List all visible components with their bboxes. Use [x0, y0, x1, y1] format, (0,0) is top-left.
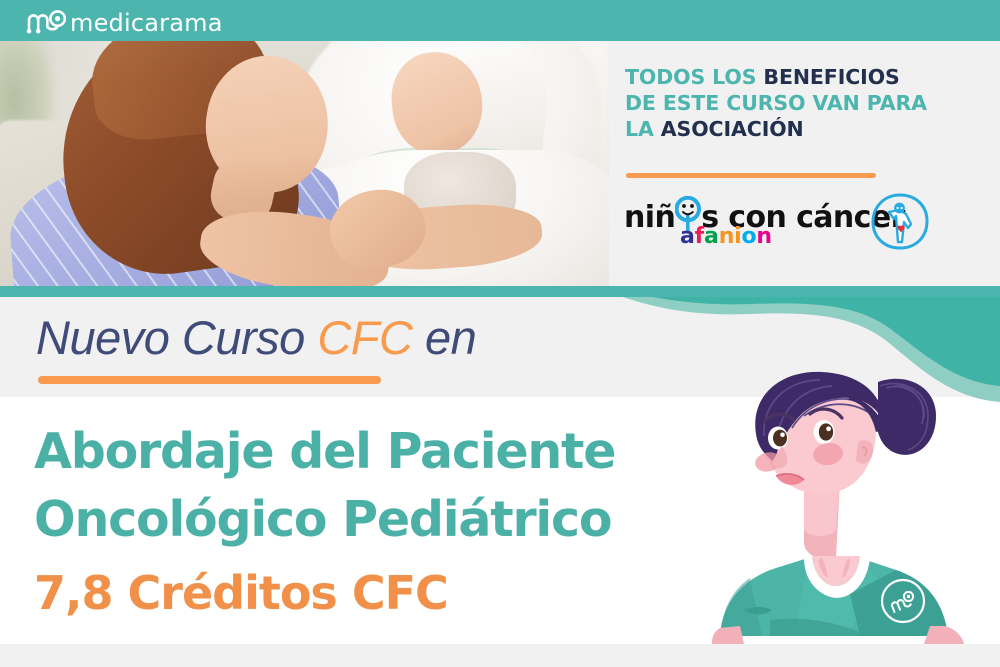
- brand-logo[interactable]: medicarama: [26, 7, 223, 39]
- afanion-letter-6: o: [742, 224, 757, 249]
- hero-eyebrow-part1: Nuevo Curso: [36, 311, 317, 364]
- afanion-letter-3: a: [704, 224, 719, 249]
- hero-eyebrow: Nuevo Curso CFC en: [36, 310, 476, 365]
- hero-eyebrow-part2: en: [412, 311, 476, 364]
- association-name-part1: niñ: [624, 200, 675, 235]
- claim-line1-navy: BENEFICIOS: [763, 65, 899, 89]
- footer-strip: [0, 644, 1000, 667]
- course-title-line-2: Oncológico Pediátrico: [34, 486, 694, 554]
- afanion-letter-5: i: [734, 224, 741, 249]
- hero-accent-rule: [38, 376, 381, 384]
- course-title-line-1: Abordaje del Paciente: [34, 418, 694, 486]
- afanion-letter-2: f: [695, 224, 704, 249]
- brand-name: medicarama: [70, 9, 223, 37]
- claim-text: TODOS LOS BENEFICIOS DE ESTE CURSO VAN P…: [625, 64, 985, 142]
- hero-eyebrow-highlight: CFC: [317, 311, 412, 364]
- claim-line-1: TODOS LOS BENEFICIOS: [625, 64, 985, 90]
- photo-overlay: [0, 0, 609, 286]
- association-subname: afanion: [680, 224, 772, 249]
- claim-line-2: DE ESTE CURSO VAN PARA: [625, 90, 985, 116]
- course-credits: 7,8 Créditos CFC: [34, 566, 448, 620]
- afanion-letter-7: n: [756, 224, 771, 249]
- association-logo[interactable]: niñ s con cáncer afanion: [624, 196, 944, 258]
- nurse-with-pediatric-patient-photo: [0, 0, 609, 286]
- stethoscope-m-icon: [26, 7, 66, 39]
- child-in-circle-mascot-icon: [869, 192, 931, 257]
- claim-line1-teal: TODOS LOS: [625, 65, 763, 89]
- brand-header-bar: medicarama: [0, 0, 1000, 41]
- claim-line-3: LA ASOCIACIÓN: [625, 116, 985, 142]
- claim-line3-teal: LA: [625, 117, 661, 141]
- claim-line3-navy: ASOCIACIÓN: [661, 117, 804, 141]
- claim-divider-rule: [626, 173, 876, 178]
- afanion-letter-4: n: [719, 224, 734, 249]
- teal-divider-bar: [0, 286, 1000, 297]
- course-title: Abordaje del Paciente Oncológico Pediátr…: [34, 418, 694, 554]
- promotional-banner: medicarama TODOS LOS BENEFICIOS DE ESTE …: [0, 0, 1000, 667]
- nurse-character-illustration: [700, 370, 1000, 644]
- afanion-letter-1: a: [680, 224, 695, 249]
